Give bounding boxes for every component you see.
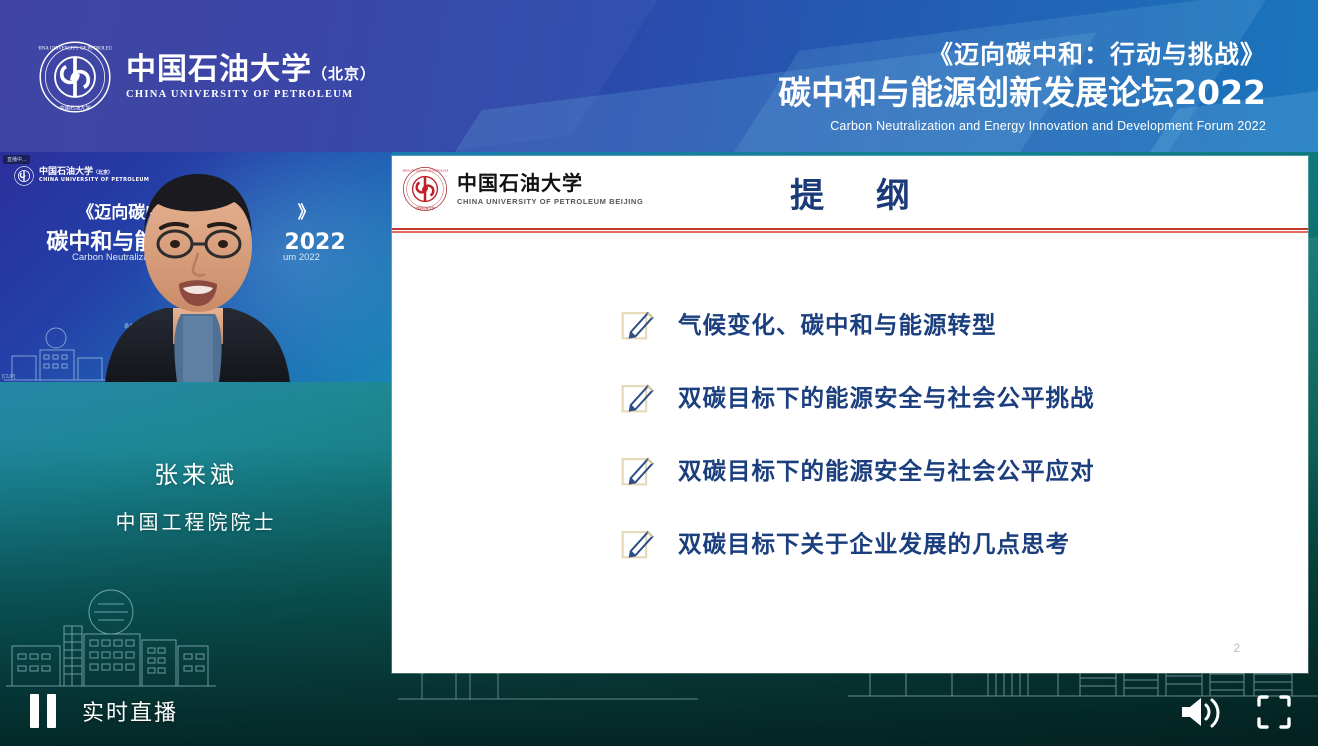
forum-title-en: Carbon Neutralization and Energy Innovat… (778, 119, 1266, 133)
pencil-square-icon (620, 451, 656, 487)
live-status-label: 实时直播 (82, 695, 178, 727)
list-item: 双碳目标下关于企业发展的几点思考 (392, 505, 1308, 578)
player-control-bar: 实时直播 (0, 673, 1318, 746)
university-logo: CHINA UNIVERSITY OF PETROLEUM 中国石油大学 中国石… (38, 40, 376, 114)
university-name-cn: 中国石油大学 (126, 52, 312, 87)
volume-icon[interactable] (1178, 695, 1220, 729)
speaker-role: 中国工程院院士 (0, 506, 392, 535)
pencil-square-icon (620, 305, 656, 341)
live-stream-page: CHINA UNIVERSITY OF PETROLEUM 中国石油大学 中国石… (0, 0, 1318, 746)
forum-quote: 《迈向碳中和：行动与挑战》 (778, 40, 1266, 70)
slide-header: CHINA UNIVERSITY OF PETROLEUM 中国石油大学 中国石… (392, 156, 1308, 228)
university-seal-icon: CHINA UNIVERSITY OF PETROLEUM 中国石油大学 (38, 40, 112, 114)
list-item: 气候变化、碳中和与能源转型 (392, 286, 1308, 359)
video-corner-tag: [CUP] (2, 374, 15, 380)
list-item: 双碳目标下的能源安全与社会公平应对 (392, 432, 1308, 505)
university-campus-cn: （北京） (312, 65, 376, 83)
player-right-controls (1178, 694, 1292, 730)
presentation-slide[interactable]: CHINA UNIVERSITY OF PETROLEUM 中国石油大学 中国石… (392, 156, 1308, 673)
pencil-square-icon (620, 378, 656, 414)
pencil-square-icon (620, 524, 656, 560)
pause-icon[interactable] (30, 694, 56, 728)
slide-page-number: 2 (1233, 641, 1240, 655)
list-item-label: 气候变化、碳中和与能源转型 (678, 306, 997, 340)
video-university-seal-icon (14, 166, 34, 186)
list-item-label: 双碳目标下关于企业发展的几点思考 (678, 525, 1070, 559)
slide-title: 提 纲 (392, 168, 1308, 217)
fullscreen-icon[interactable] (1256, 694, 1292, 730)
svg-text:CHINA UNIVERSITY OF PETROLEUM: CHINA UNIVERSITY OF PETROLEUM (38, 47, 112, 52)
forum-title-cn: 碳中和与能源创新发展论坛2022 (778, 72, 1266, 113)
speaker-portrait (95, 158, 300, 382)
page-header: CHINA UNIVERSITY OF PETROLEUM 中国石油大学 中国石… (0, 0, 1318, 152)
slide-divider-line-bottom (392, 231, 1308, 233)
speaker-caption: 张来斌 中国工程院院士 (0, 455, 392, 535)
video-overlay-tag: 直播中... (3, 155, 30, 164)
video-logo-cn: 中国石油大学 (39, 167, 93, 177)
speaker-video-feed[interactable]: 中国石油大学（北京） CHINA UNIVERSITY OF PETROLEUM… (0, 152, 392, 382)
list-item-label: 双碳目标下的能源安全与社会公平应对 (678, 452, 1095, 486)
slide-outline-list: 气候变化、碳中和与能源转型 双碳目标下的能源安全与社会公平挑战 (392, 286, 1308, 578)
list-item-label: 双碳目标下的能源安全与社会公平挑战 (678, 379, 1095, 413)
university-wordmark: 中国石油大学（北京） CHINA UNIVERSITY OF PETROLEUM (126, 54, 376, 101)
slide-divider (392, 228, 1308, 233)
university-name-en: CHINA UNIVERSITY OF PETROLEUM (126, 89, 376, 100)
player-left-controls: 实时直播 (30, 694, 178, 728)
forum-title-block: 《迈向碳中和：行动与挑战》 碳中和与能源创新发展论坛2022 Carbon Ne… (778, 40, 1266, 133)
list-item: 双碳目标下的能源安全与社会公平挑战 (392, 359, 1308, 432)
speaker-name: 张来斌 (0, 455, 392, 490)
